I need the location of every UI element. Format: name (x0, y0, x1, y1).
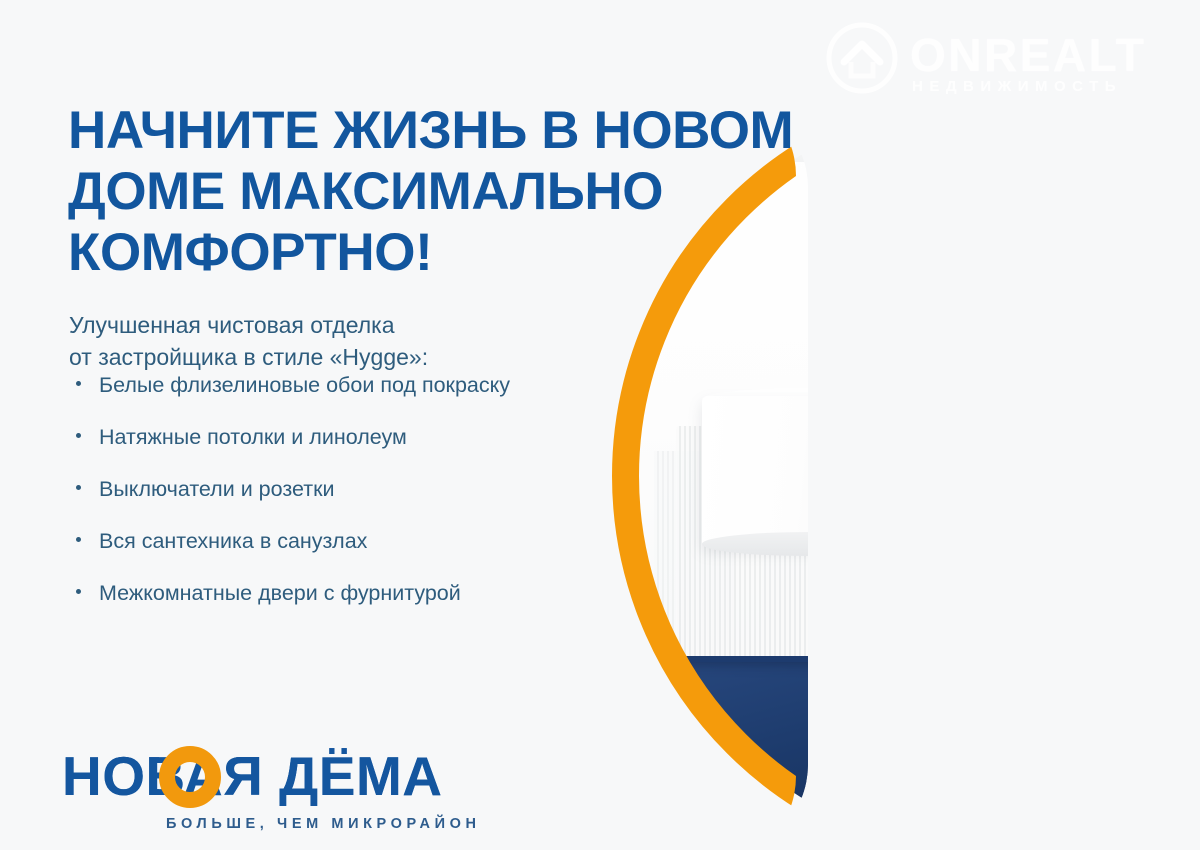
bullet-dot (76, 433, 81, 438)
logo-orange-ring (159, 746, 221, 808)
sofa-bolster-pillow (1174, 734, 1200, 850)
list-item-label: Выключатели и розетки (99, 477, 334, 501)
watermark: ONREALT НЕДВИЖИМОСТЬ (818, 12, 1188, 104)
logo: НОВАЯ ДЁМА НОВАЯ ДЁМА НОВАЯ ДЁМА БОЛЬШЕ,… (62, 744, 482, 844)
sofa-cushion (1104, 662, 1200, 842)
sofa-cushion (666, 662, 866, 842)
bullet-dot (76, 589, 81, 594)
bullet-dot (76, 485, 81, 490)
list-item-label: Межкомнатные двери с фурнитурой (99, 581, 461, 605)
feature-list: Белые флизелиновые обои под покраску Нат… (69, 371, 599, 631)
logo-tagline: БОЛЬШЕ, ЧЕМ МИКРОРАЙОН (166, 816, 481, 832)
arc-lamp-stem (1073, 566, 1097, 850)
list-item: Вся сантехника в санузлах (69, 527, 599, 556)
page-title: НАЧНИТЕ ЖИЗНЬ В НОВОМ ДОМЕ МАКСИМАЛЬНО К… (68, 100, 948, 283)
lampshade-bottom (702, 532, 917, 556)
lampshade (702, 396, 917, 546)
list-item-label: Вся сантехника в санузлах (99, 529, 367, 553)
list-item: Межкомнатные двери с фурнитурой (69, 579, 599, 608)
list-item: Выключатели и розетки (69, 475, 599, 504)
watermark-subtitle: НЕДВИЖИМОСТЬ (912, 78, 1122, 95)
list-item-label: Белые флизелиновые обои под покраску (99, 373, 510, 397)
sofa-seat (624, 816, 1200, 850)
list-item-label: Натяжные потолки и линолеум (99, 425, 407, 449)
subtitle: Улучшенная чистовая отделка от застройщи… (69, 309, 589, 373)
list-item: Белые флизелиновые обои под покраску (69, 371, 599, 400)
bullet-dot (76, 381, 81, 386)
promo-banner: ONREALT НЕДВИЖИМОСТЬ НАЧНИТЕ ЖИЗНЬ В НОВ… (0, 0, 1200, 850)
sofa-cushion (870, 662, 1100, 842)
arc-lamp-pole (771, 268, 1116, 591)
list-item: Натяжные потолки и линолеум (69, 423, 599, 452)
house-circle-icon (824, 20, 900, 96)
watermark-name: ONREALT (910, 28, 1146, 82)
bullet-dot (76, 537, 81, 542)
